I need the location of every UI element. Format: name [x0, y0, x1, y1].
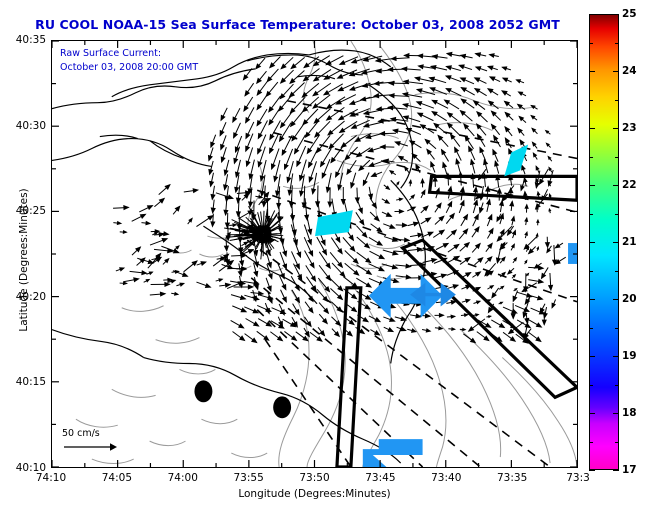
colorbar-tick-mark — [613, 185, 619, 186]
figure-title: RU COOL NOAA-15 Sea Surface Temperature:… — [0, 17, 595, 32]
colorbar-tick-label: 17 — [622, 464, 637, 476]
colorbar-minor-tick — [589, 100, 593, 101]
x-tick-label: 74:00 — [168, 472, 198, 484]
map-plot-area: Raw Surface Current: October 03, 2008 20… — [51, 40, 578, 468]
colorbar-tick-label: 25 — [622, 8, 637, 20]
colorbar-minor-tick — [615, 442, 619, 443]
colorbar-tick-label: 22 — [622, 179, 637, 191]
x-tick-label: 73:45 — [365, 472, 395, 484]
surface-current-vectors — [113, 52, 566, 343]
map-canvas — [52, 41, 577, 467]
station-marker-2 — [273, 396, 291, 418]
colorbar-tick-mark — [589, 470, 595, 471]
colorbar-tick-label: 18 — [622, 407, 637, 419]
colorbar-minor-tick — [589, 385, 593, 386]
colorbar-minor-tick — [615, 385, 619, 386]
colorbar-tick-label: 19 — [622, 350, 637, 362]
survey-transect-polygons — [337, 176, 577, 467]
colorbar-minor-tick — [589, 328, 593, 329]
x-tick-label: 73:3 — [566, 472, 590, 484]
colorbar-minor-tick — [615, 157, 619, 158]
colorbar-tick-label: 24 — [622, 65, 637, 77]
station-marker-1 — [194, 380, 212, 402]
colorbar-minor-tick — [589, 271, 593, 272]
colorbar-minor-tick — [589, 43, 593, 44]
x-tick-label: 73:40 — [431, 472, 461, 484]
colorbar-minor-tick — [589, 442, 593, 443]
colorbar-tick-mark — [613, 128, 619, 129]
y-axis-label: Latitude (Degrees:Minutes) — [18, 150, 30, 370]
colorbar-tick-mark — [613, 14, 619, 15]
colorbar-tick-label: 20 — [622, 293, 637, 305]
colorbar-tick-mark — [613, 242, 619, 243]
sst-patch-cyan-mid — [315, 210, 353, 236]
colorbar-tick-mark — [613, 470, 619, 471]
colorbar-tick-mark — [613, 356, 619, 357]
x-tick-label: 73:55 — [233, 472, 263, 484]
scale-legend-label: 50 cm/s — [62, 428, 158, 439]
velocity-scale-legend: 50 cm/s — [62, 428, 158, 453]
colorbar-minor-tick — [615, 214, 619, 215]
colorbar-minor-tick — [615, 100, 619, 101]
colorbar-tick-mark — [589, 71, 595, 72]
x-tick-label: 74:05 — [102, 472, 132, 484]
colorbar-tick-label: 23 — [622, 122, 637, 134]
x-tick-label: 73:50 — [299, 472, 329, 484]
station-markers — [194, 380, 291, 418]
colorbar-tick-mark — [589, 185, 595, 186]
colorbar-tick-label: 21 — [622, 236, 637, 248]
x-axis-label: Longitude (Degrees:Minutes) — [51, 488, 578, 500]
colorbar-tick-mark — [613, 413, 619, 414]
colorbar-tick-mark — [589, 356, 595, 357]
colorbar-tick-mark — [613, 299, 619, 300]
colorbar-minor-tick — [589, 214, 593, 215]
colorbar-minor-tick — [615, 271, 619, 272]
colorbar-minor-tick — [589, 157, 593, 158]
x-tick-label: 73:35 — [497, 472, 527, 484]
colorbar-tick-mark — [589, 413, 595, 414]
colorbar-minor-tick — [615, 43, 619, 44]
sst-map-figure: RU COOL NOAA-15 Sea Surface Temperature:… — [0, 0, 651, 518]
colorbar-tick-mark — [589, 299, 595, 300]
colorbar-tick-mark — [589, 128, 595, 129]
colorbar-tick-mark — [589, 242, 595, 243]
colorbar-minor-tick — [615, 328, 619, 329]
colorbar-tick-mark — [613, 71, 619, 72]
scale-legend-arrow-icon — [62, 441, 122, 453]
colorbar-tick-mark — [589, 14, 595, 15]
